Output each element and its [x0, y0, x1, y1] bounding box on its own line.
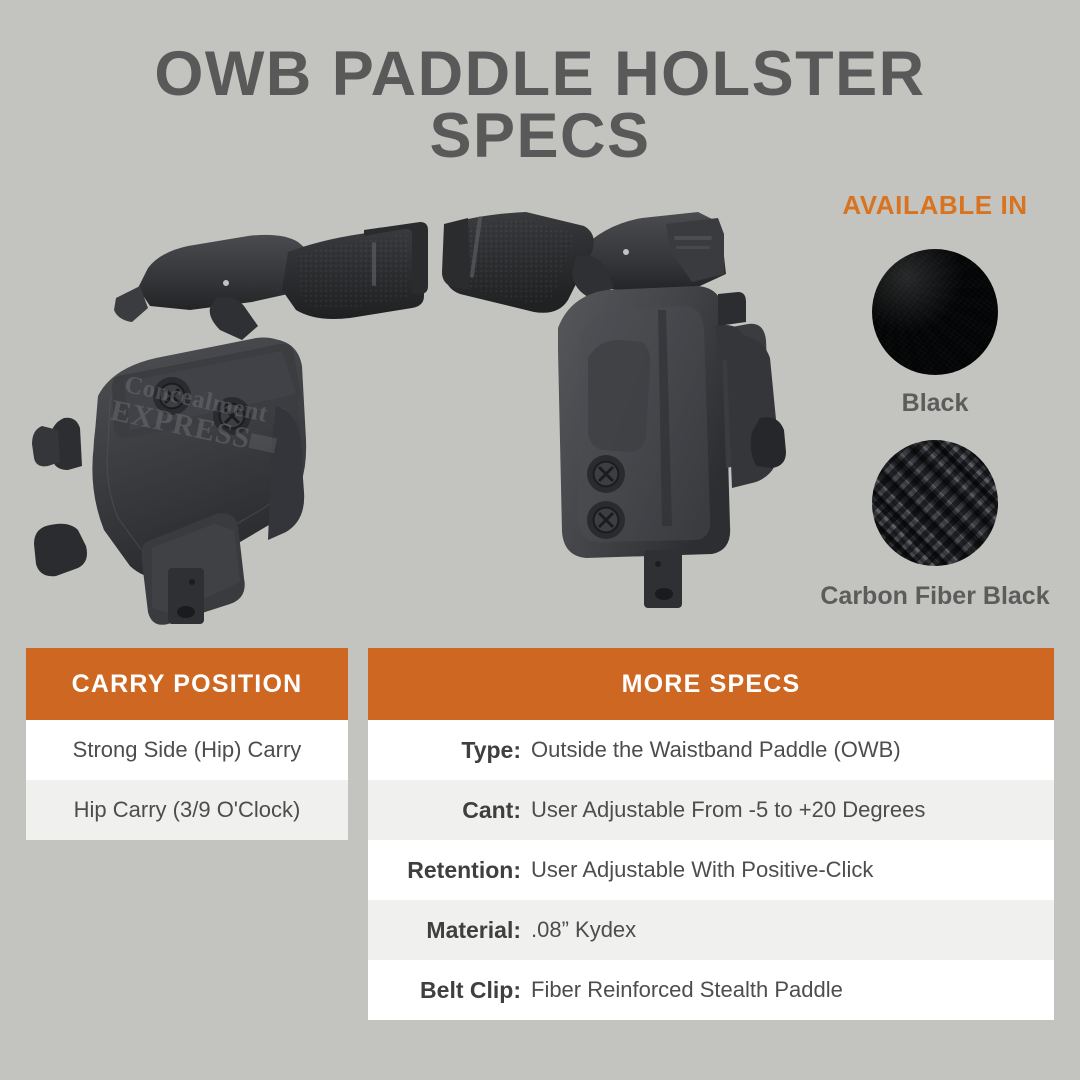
carbon-fiber-swatch [872, 440, 998, 566]
more-specs-table: MORE SPECS Type: Outside the Waistband P… [368, 648, 1054, 1020]
holster-image-left: Concealment EXPRESS [20, 190, 440, 630]
spec-value: Fiber Reinforced Stealth Paddle [531, 977, 843, 1003]
available-in-heading: AVAILABLE IN [790, 190, 1080, 221]
color-option-carbon-fiber[interactable]: Carbon Fiber Black [790, 440, 1080, 611]
carry-position-table: CARRY POSITION Strong Side (Hip) Carry H… [26, 648, 348, 840]
spec-row: Material: .08” Kydex [368, 900, 1054, 960]
spec-value: .08” Kydex [531, 917, 636, 943]
more-specs-header: MORE SPECS [368, 648, 1054, 720]
spec-row: Type: Outside the Waistband Paddle (OWB) [368, 720, 1054, 780]
product-image-group: Concealment EXPRESS [0, 190, 820, 630]
spec-label: Retention: [368, 857, 531, 884]
black-texture-swatch [872, 249, 998, 375]
color-option-black[interactable]: Black [790, 249, 1080, 418]
carry-position-row: Hip Carry (3/9 O'Clock) [26, 780, 348, 840]
spec-label: Cant: [368, 797, 531, 824]
spec-row: Cant: User Adjustable From -5 to +20 Deg… [368, 780, 1054, 840]
spec-label: Material: [368, 917, 531, 944]
spec-value: Outside the Waistband Paddle (OWB) [531, 737, 901, 763]
spec-row: Belt Clip: Fiber Reinforced Stealth Padd… [368, 960, 1054, 1020]
spec-value: User Adjustable From -5 to +20 Degrees [531, 797, 925, 823]
page-title-line-1: OWB PADDLE HOLSTER [0, 44, 1080, 106]
available-colors-section: AVAILABLE IN Black Carbon Fiber Black [790, 190, 1080, 611]
page-title-line-2: SPECS [0, 106, 1080, 168]
carry-position-row: Strong Side (Hip) Carry [26, 720, 348, 780]
page-title: OWB PADDLE HOLSTER SPECS [0, 44, 1080, 167]
carry-position-header: CARRY POSITION [26, 648, 348, 720]
spec-value: User Adjustable With Positive-Click [531, 857, 873, 883]
color-option-carbon-fiber-label: Carbon Fiber Black [790, 582, 1080, 611]
spec-row: Retention: User Adjustable With Positive… [368, 840, 1054, 900]
spec-label: Type: [368, 737, 531, 764]
color-option-black-label: Black [790, 389, 1080, 418]
holster-image-right [430, 190, 820, 630]
spec-label: Belt Clip: [368, 977, 531, 1004]
